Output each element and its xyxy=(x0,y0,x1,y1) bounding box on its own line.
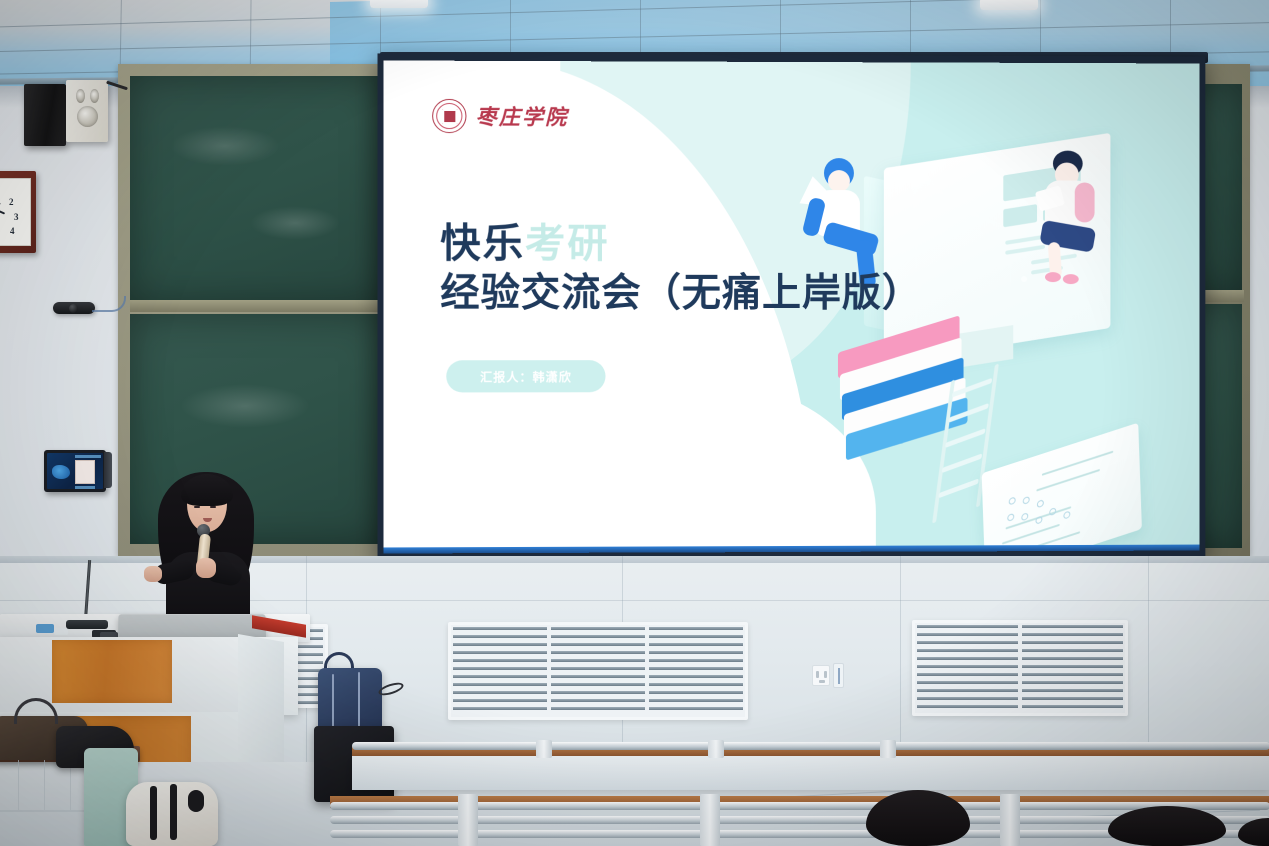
seal-inner-mark xyxy=(442,108,457,123)
ceiling-light-fixture xyxy=(370,0,428,8)
air-vent-grille xyxy=(448,622,748,720)
microphone-base xyxy=(66,620,108,629)
vent-section xyxy=(649,625,743,717)
chalkboard-panel xyxy=(130,76,382,304)
desk-item xyxy=(36,624,54,633)
presenter-speaking xyxy=(148,466,268,626)
white-wall-speaker xyxy=(66,80,108,142)
left-wall-panel xyxy=(0,86,126,606)
lecture-hall-photo: 1 2 3 4 5 xyxy=(0,0,1269,846)
presentation-slide: 枣庄学院 快乐考研 经验交流会（无痛上岸版） 汇报人：韩潇欣 xyxy=(384,60,1200,553)
university-logo: 枣庄学院 xyxy=(432,99,568,134)
clock-hand-minute xyxy=(0,207,5,214)
wall-mounted-camera xyxy=(53,302,95,314)
speaker-cone xyxy=(90,89,99,103)
slide-title-block: 快乐考研 经验交流会（无痛上岸版） xyxy=(440,222,922,318)
white-backpack xyxy=(126,782,218,846)
university-logo-text: 枣庄学院 xyxy=(476,101,569,131)
clock-hand-hour xyxy=(0,202,1,209)
slide-title-line-2: 经验交流会（无痛上岸版） xyxy=(440,271,922,318)
slide-title-line-1: 快乐考研 xyxy=(440,222,922,267)
chalk-smudge xyxy=(180,384,310,428)
switch-toggle[interactable] xyxy=(838,668,840,684)
light-switch[interactable] xyxy=(833,663,844,688)
outlet-slot xyxy=(824,671,827,678)
podium-wood-panel xyxy=(52,640,172,703)
vent-section xyxy=(453,625,547,717)
tablet-status-strip xyxy=(75,486,95,489)
chalk-smudge xyxy=(170,126,280,166)
bag-zipper xyxy=(332,674,334,728)
vent-section xyxy=(917,623,1018,713)
presenter-hand-left xyxy=(144,566,162,582)
wall-control-tablet[interactable] xyxy=(44,450,106,492)
bag-zipper xyxy=(358,672,360,728)
speaker-cone xyxy=(76,89,85,103)
clock-face: 1 2 3 4 5 xyxy=(0,178,31,246)
university-seal-emblem xyxy=(432,99,466,133)
bench-rail-post xyxy=(880,740,896,758)
presenter-name-text: 汇报人：韩潇欣 xyxy=(480,368,572,385)
bench-rail-post xyxy=(1000,794,1020,846)
backpack-stripe xyxy=(170,784,177,840)
tablet-mount-bracket xyxy=(104,452,112,488)
vent-section xyxy=(1022,623,1123,713)
presenter-eye xyxy=(194,506,200,508)
tablet-screen[interactable] xyxy=(47,453,103,489)
desk-item xyxy=(54,628,68,635)
speaker-cone xyxy=(77,106,98,127)
navy-bag xyxy=(318,668,382,734)
black-wall-speaker xyxy=(24,84,66,146)
bench-rail-post xyxy=(458,794,478,846)
title-part-happy: 快乐 xyxy=(440,222,525,266)
outlet-slot xyxy=(816,671,819,678)
bench-rail-post xyxy=(700,794,720,846)
bench-rail-post xyxy=(708,740,724,758)
presenter-hand-right xyxy=(196,558,216,578)
camera-lens-icon xyxy=(69,304,78,313)
ceiling-light-fixture xyxy=(980,0,1038,10)
tile-seam xyxy=(900,556,901,762)
bench-rail xyxy=(352,742,1269,750)
clock-number: 3 xyxy=(14,212,19,222)
lecture-hall-bench-seating xyxy=(352,756,1269,790)
chalk-smudge xyxy=(250,206,340,240)
outlet-slot xyxy=(819,680,825,683)
wall-clock: 1 2 3 4 5 xyxy=(0,171,36,253)
air-vent-grille xyxy=(912,620,1128,716)
bench-rail-post xyxy=(536,740,552,758)
vent-section xyxy=(551,625,645,717)
tablet-status-strip xyxy=(75,455,101,458)
tablet-graphic xyxy=(52,465,70,479)
clock-number: 4 xyxy=(10,226,15,236)
presenter-pill-badge: 汇报人：韩潇欣 xyxy=(446,360,605,392)
clock-number: 2 xyxy=(9,197,14,207)
tablet-card-area xyxy=(75,460,95,484)
backpack-pocket xyxy=(188,790,204,812)
tile-seam xyxy=(1148,556,1149,762)
power-outlet[interactable] xyxy=(812,665,830,686)
presenter-eye xyxy=(210,506,216,508)
title-part-kaoyan: 考研 xyxy=(525,222,610,266)
backpack-stripe xyxy=(150,786,157,840)
